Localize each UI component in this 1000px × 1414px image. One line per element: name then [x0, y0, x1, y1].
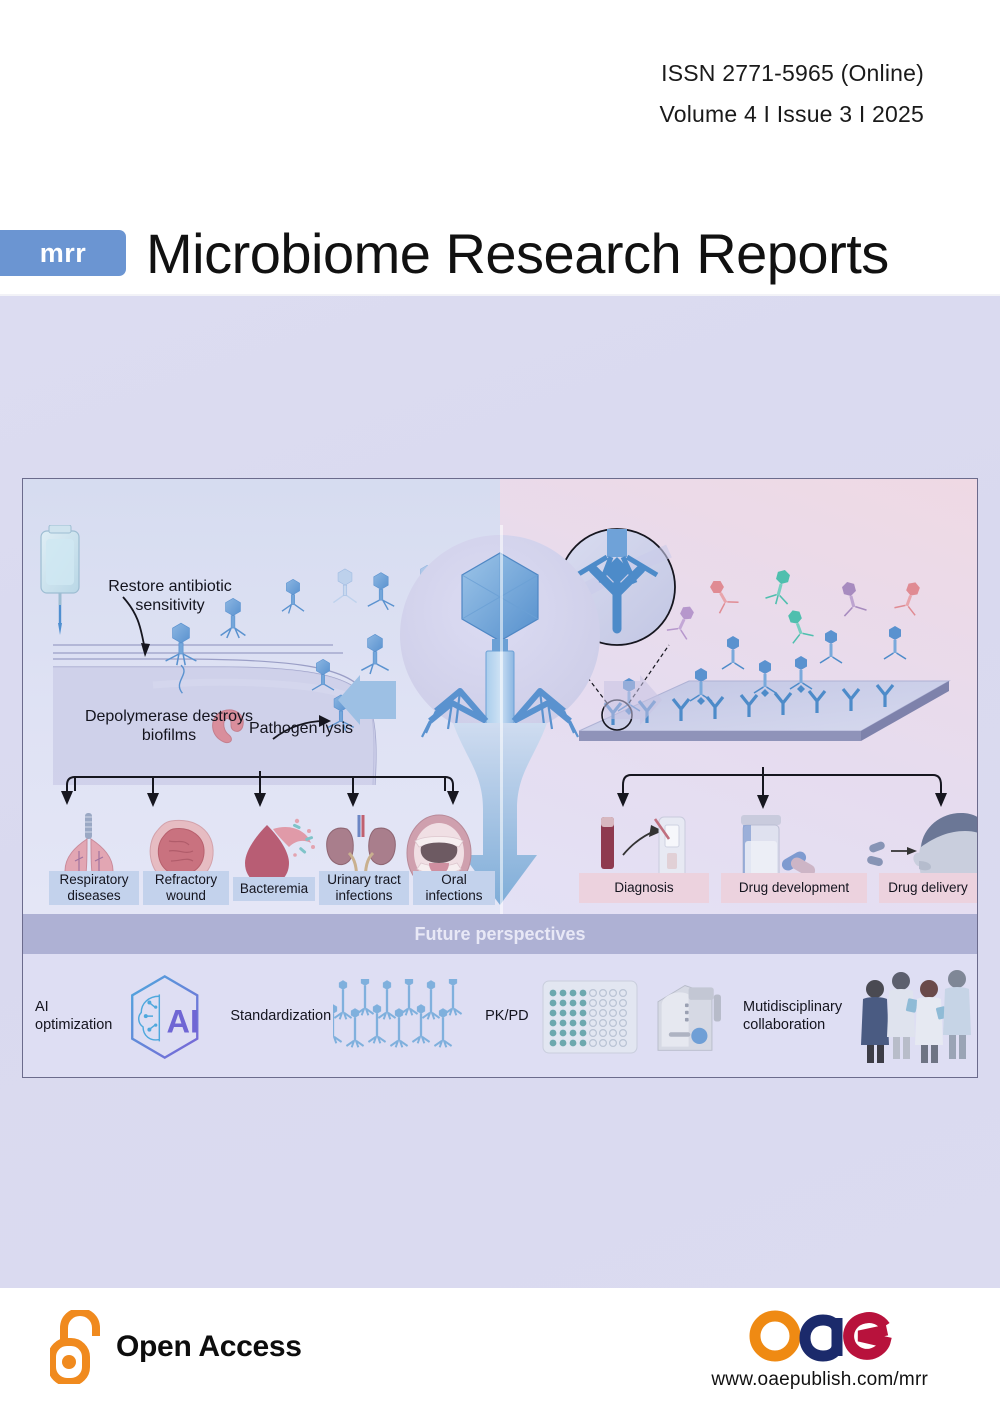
fp-item-standardization: Standardization — [230, 979, 463, 1055]
masthead: ISSN 2771-5965 (Online) Volume 4 I Issue… — [0, 0, 1000, 294]
publisher-group: www.oaepublish.com/mrr — [711, 1306, 928, 1391]
microplate-icon — [541, 979, 639, 1055]
chip-urinary-tract-infections: Urinary tract infections — [319, 871, 409, 905]
chip-refractory-wound: Refractory wound — [143, 871, 229, 905]
graphical-abstract: Restore antibiotic sensitivity Depolymer… — [22, 478, 978, 1078]
fp-label-multidisciplinary-collaboration: Mutidisciplinary collaboration — [743, 999, 855, 1034]
oae-logo-icon — [745, 1306, 895, 1362]
annotation-restore-antibiotic-sensitivity: Restore antibiotic sensitivity — [95, 577, 245, 615]
arrow-to-right-panel-icon — [602, 675, 662, 725]
cover-art-band: Restore antibiotic sensitivity Depolymer… — [0, 294, 1000, 1288]
future-perspectives-header: Future perspectives — [23, 914, 977, 954]
graphical-abstract-top: Restore antibiotic sensitivity Depolymer… — [23, 479, 977, 914]
arrow-to-left-panel-icon — [338, 675, 398, 725]
footer: Open Access www.oaepublish.com/mrr — [0, 1288, 1000, 1414]
issn-line: ISSN 2771-5965 (Online) — [659, 60, 924, 87]
blood-drop-icon — [245, 819, 315, 885]
lab-instrument-icon — [649, 974, 735, 1060]
fp-label-ai-optimization: AI optimization — [35, 999, 121, 1034]
colored-phages — [667, 567, 926, 643]
annotation-depolymerase-destroys-biofilms: Depolymerase destroys biofilms — [79, 707, 259, 745]
open-access-label: Open Access — [116, 1330, 302, 1364]
chip-oral-infections: Oral infections — [413, 871, 495, 905]
open-access-group: Open Access — [50, 1310, 302, 1384]
pill-bottle-icon — [741, 815, 817, 881]
panel-divider — [500, 525, 503, 914]
publisher-url: www.oaepublish.com/mrr — [711, 1369, 928, 1391]
issue-info: ISSN 2771-5965 (Online) Volume 4 I Issue… — [659, 60, 924, 128]
chip-bacteremia: Bacteremia — [233, 877, 315, 901]
fp-item-multidisciplinary-collaboration: Mutidisciplinary collaboration — [743, 967, 977, 1067]
mrr-logo-text: mrr — [40, 238, 87, 269]
fp-item-pkpd: PK/PD — [485, 979, 639, 1055]
test-strip-icon — [601, 817, 685, 879]
chip-drug-delivery: Drug delivery — [879, 873, 977, 903]
iv-bag-icon — [41, 525, 79, 635]
volume-issue-year-line: Volume 4 I Issue 3 I 2025 — [659, 101, 924, 128]
chip-respiratory-diseases: Respiratory diseases — [49, 871, 139, 905]
svg-text:AI: AI — [166, 1003, 199, 1039]
chip-diagnosis: Diagnosis — [579, 873, 709, 903]
fp-label-pkpd: PK/PD — [485, 1008, 529, 1025]
chip-drug-development: Drug development — [721, 873, 867, 903]
phage-array-icon — [333, 979, 463, 1055]
mrr-logo-badge: mrr — [0, 230, 126, 276]
fp-label-standardization: Standardization — [230, 1008, 331, 1025]
future-perspectives-body: AI optimization — [23, 954, 977, 1078]
fp-item-ai-optimization: AI optimization — [35, 968, 204, 1066]
ai-brain-hexagon-icon: AI — [125, 968, 204, 1066]
open-access-lock-icon — [50, 1310, 102, 1384]
journal-title-row: mrr Microbiome Research Reports — [0, 216, 889, 290]
research-team-icon — [857, 967, 977, 1067]
journal-title: Microbiome Research Reports — [146, 221, 889, 286]
